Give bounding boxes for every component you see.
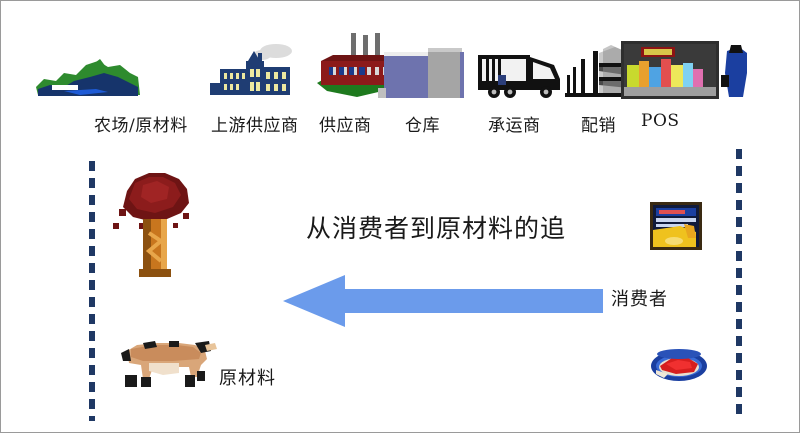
raw-material-label: 原材料	[219, 364, 276, 390]
farm-landscape-icon	[34, 55, 144, 101]
supply-chain-label-row: 农场/原材料 上游供应商 供应商 仓库 承运商 配销 POS	[1, 111, 800, 137]
slide-canvas: 农场/原材料 上游供应商 供应商 仓库 承运商 配销 POS 从消费者到原材料的…	[0, 0, 800, 433]
chain-label-carrier: 承运商	[488, 111, 541, 136]
factory-blue-icon	[206, 39, 306, 101]
chain-label-farm: 农场/原材料	[94, 111, 188, 136]
chain-label-distribution: 配销	[581, 111, 616, 136]
chain-node-warehouse[interactable]	[376, 23, 470, 101]
chain-label-pos: POS	[641, 111, 680, 131]
pos-store-icon	[621, 39, 751, 101]
consumer-label: 消费者	[611, 285, 668, 311]
consumer-boundary	[736, 149, 742, 421]
chain-label-upstream: 上游供应商	[211, 111, 299, 136]
warehouse-icon	[376, 46, 470, 101]
chain-label-warehouse: 仓库	[405, 111, 440, 136]
chain-node-farm[interactable]	[34, 23, 144, 101]
cow-icon	[113, 335, 219, 391]
plated-food-icon	[650, 348, 708, 382]
chain-node-pos[interactable]	[621, 23, 751, 101]
chain-node-upstream-supplier[interactable]	[206, 23, 306, 101]
chain-label-supplier: 供应商	[319, 111, 372, 136]
page-title: 从消费者到原材料的追	[306, 209, 566, 245]
traceability-arrow	[283, 275, 603, 327]
chain-node-carrier[interactable]	[474, 23, 566, 101]
supply-chain-icon-row	[1, 23, 800, 103]
truck-icon	[474, 45, 566, 101]
tree-icon	[109, 169, 203, 279]
raw-material-boundary	[89, 161, 95, 421]
packaged-product-icon	[650, 202, 702, 250]
